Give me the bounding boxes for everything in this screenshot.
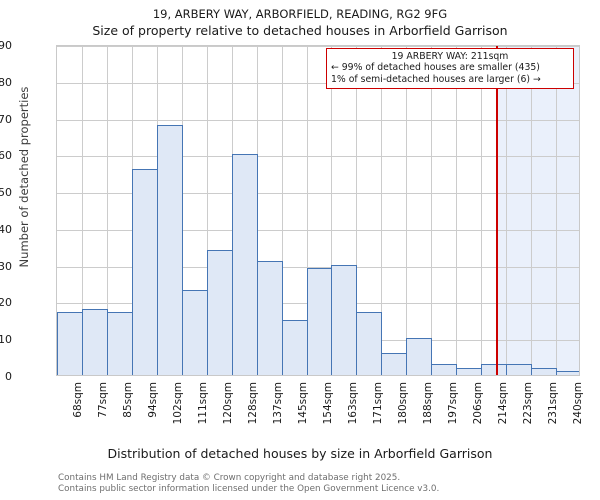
histogram-bar xyxy=(82,309,108,375)
histogram-bar xyxy=(257,261,283,375)
histogram-bar xyxy=(506,364,532,375)
gridline-vertical xyxy=(506,46,507,375)
chart-title-block: 19, ARBERY WAY, ARBORFIELD, READING, RG2… xyxy=(0,6,600,39)
y-tick-label: 20 xyxy=(0,297,12,308)
gridline-horizontal xyxy=(57,46,579,47)
x-tick-label: 77sqm xyxy=(97,382,109,418)
gridline-vertical xyxy=(406,46,407,375)
x-tick-label: 85sqm xyxy=(122,382,134,418)
footer-line-1: Contains HM Land Registry data © Crown c… xyxy=(58,473,578,484)
x-tick-label: 171sqm xyxy=(372,382,384,424)
page-title: 19, ARBERY WAY, ARBORFIELD, READING, RG2… xyxy=(0,6,600,22)
x-tick-label: 120sqm xyxy=(222,382,234,424)
x-tick-label: 145sqm xyxy=(297,382,309,424)
histogram-bar xyxy=(431,364,457,375)
histogram-bar xyxy=(207,250,233,375)
gridline-vertical xyxy=(431,46,432,375)
histogram-bar xyxy=(132,169,158,375)
gridline-horizontal xyxy=(57,156,579,157)
histogram-bar xyxy=(456,368,482,375)
y-tick-label: 70 xyxy=(0,114,12,125)
larger-properties-shaded-region xyxy=(496,46,580,375)
x-tick-label: 240sqm xyxy=(572,382,584,424)
gridline-vertical xyxy=(556,46,557,375)
y-axis-title: Number of detached properties xyxy=(17,17,31,337)
histogram-bar xyxy=(481,364,507,375)
x-tick-label: 137sqm xyxy=(272,382,284,424)
histogram-bar xyxy=(356,312,382,375)
x-tick-label: 231sqm xyxy=(547,382,559,424)
annotation-line-3: 1% of semi-detached houses are larger (6… xyxy=(331,74,569,85)
annotation-line-1: 19 ARBERY WAY: 211sqm xyxy=(331,51,569,62)
x-tick-label: 68sqm xyxy=(72,382,84,418)
x-tick-label: 111sqm xyxy=(197,382,209,424)
chart-container: 19, ARBERY WAY, ARBORFIELD, READING, RG2… xyxy=(0,0,600,500)
y-tick-label: 0 xyxy=(0,371,12,382)
gridline-vertical xyxy=(456,46,457,375)
x-tick-label: 128sqm xyxy=(247,382,259,424)
histogram-bar xyxy=(307,268,333,375)
x-tick-label: 188sqm xyxy=(422,382,434,424)
chart-subtitle: Size of property relative to detached ho… xyxy=(0,22,600,39)
annotation-line-2: ← 99% of detached houses are smaller (43… xyxy=(331,62,569,73)
y-tick-label: 60 xyxy=(0,150,12,161)
histogram-bar xyxy=(107,312,133,375)
y-tick-label: 50 xyxy=(0,187,12,198)
gridline-vertical xyxy=(481,46,482,375)
y-tick-label: 10 xyxy=(0,334,12,345)
histogram-bar xyxy=(182,290,208,375)
gridline-horizontal xyxy=(57,120,579,121)
histogram-bar xyxy=(157,125,183,375)
x-tick-label: 154sqm xyxy=(322,382,334,424)
x-axis-title: Distribution of detached houses by size … xyxy=(0,446,600,461)
histogram-bar xyxy=(556,371,580,375)
histogram-bar xyxy=(381,353,407,375)
y-tick-label: 40 xyxy=(0,224,12,235)
histogram-bar xyxy=(331,265,357,375)
histogram-bar xyxy=(232,154,258,375)
histogram-bar xyxy=(406,338,432,375)
plot-area xyxy=(56,45,580,376)
x-tick-label: 180sqm xyxy=(397,382,409,424)
x-tick-label: 214sqm xyxy=(497,382,509,424)
histogram-bar xyxy=(57,312,83,375)
y-tick-label: 80 xyxy=(0,77,12,88)
footer-attribution: Contains HM Land Registry data © Crown c… xyxy=(58,473,578,494)
x-tick-label: 94sqm xyxy=(147,382,159,418)
property-size-marker-line xyxy=(496,46,498,375)
y-tick-label: 90 xyxy=(0,40,12,51)
histogram-bar xyxy=(282,320,308,375)
y-tick-label: 30 xyxy=(0,261,12,272)
x-tick-label: 223sqm xyxy=(522,382,534,424)
annotation-callout: 19 ARBERY WAY: 211sqm ← 99% of detached … xyxy=(326,48,574,89)
x-tick-label: 197sqm xyxy=(447,382,459,424)
x-tick-label: 206sqm xyxy=(472,382,484,424)
histogram-bar xyxy=(531,368,557,375)
gridline-vertical xyxy=(531,46,532,375)
x-tick-label: 163sqm xyxy=(347,382,359,424)
footer-line-2: Contains public sector information licen… xyxy=(58,484,578,495)
x-tick-label: 102sqm xyxy=(172,382,184,424)
